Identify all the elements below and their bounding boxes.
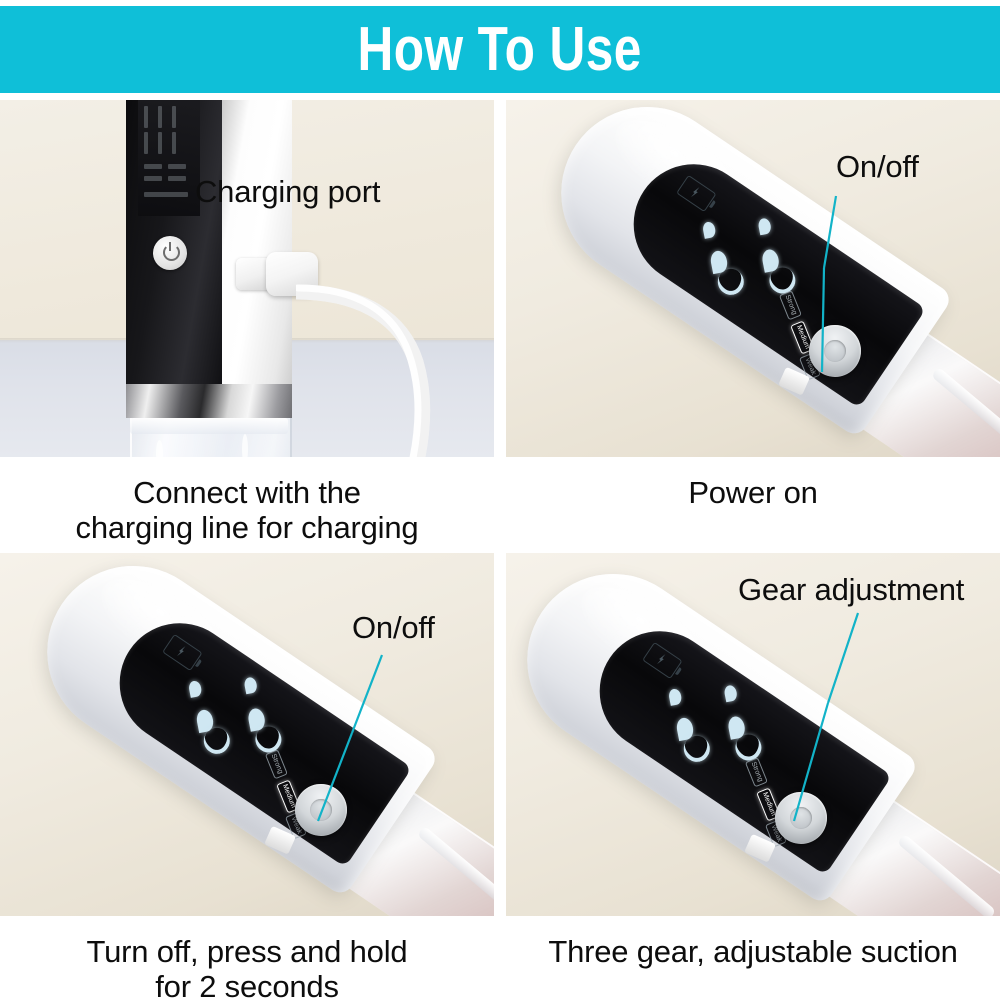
header-banner: How To Use [0,6,1000,93]
power-button-icon [153,236,187,270]
leader-line-gear-adjustment [506,553,1000,916]
infographic-page: How To Use [0,0,1000,1000]
page-title: How To Use [358,19,642,81]
step-2-photo: Strong Medium Weak On/off [506,100,1000,457]
step-4-photo: Strong Medium Weak Gear adjustment [506,553,1000,916]
step-card-1: Charging port Connect with the charging … [0,100,494,545]
callout-label-onoff: On/off [352,611,435,645]
step-1-caption: Connect with the charging line for charg… [0,457,494,545]
device-black-face [126,100,222,384]
step-3-photo: Strong Medium Weak On/off [0,553,494,916]
step-card-2: Strong Medium Weak On/off [506,100,1000,510]
display-segments [142,102,196,210]
step-1-photo: Charging port [0,100,494,457]
step-3-caption: Turn off, press and hold for 2 seconds [0,916,494,1004]
steps-grid: Charging port Connect with the charging … [0,100,1000,1000]
leader-line-onoff [0,553,494,916]
cable-wire [296,270,494,457]
callout-label-charging-port: Charging port [195,175,380,209]
step-card-4: Strong Medium Weak Gear adjustment [506,553,1000,969]
step-4-caption: Three gear, adjustable suction [506,916,1000,969]
step-card-3: Strong Medium Weak On/off [0,553,494,1004]
callout-label-gear-adjustment: Gear adjustment [738,573,964,607]
callout-label-onoff: On/off [836,150,919,184]
charging-cable [236,252,486,457]
step-2-caption: Power on [506,457,1000,510]
leader-line-onoff [506,100,1000,457]
